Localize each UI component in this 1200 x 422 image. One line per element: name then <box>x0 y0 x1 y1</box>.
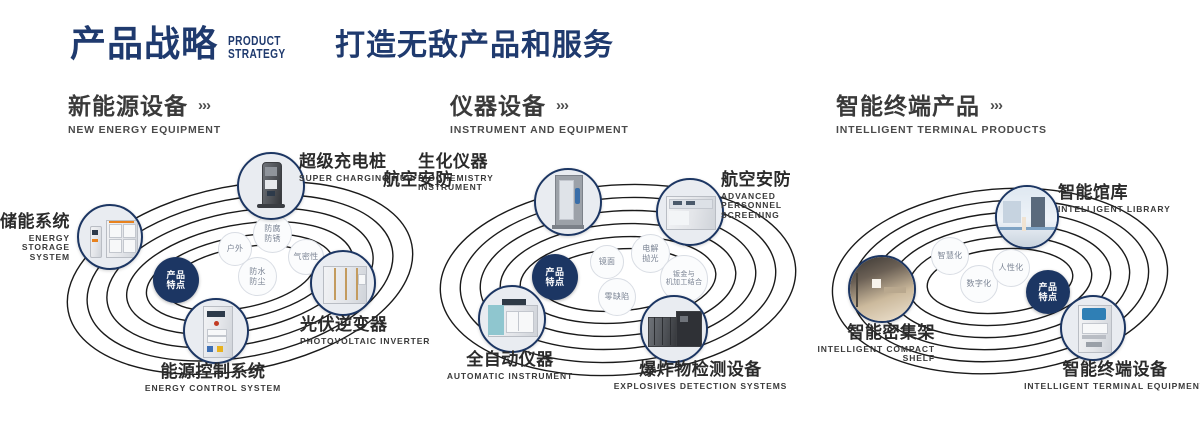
section-title-cn: 新能源设备 ››› <box>68 94 221 119</box>
section-heading-instrument: 仪器设备 ››› INSTRUMENT AND EQUIPMENT <box>450 94 629 136</box>
section-title-en: INTELLIGENT TERMINAL PRODUCTS <box>836 124 1047 136</box>
node-intelligent-library[interactable] <box>995 185 1059 249</box>
label-energy-control-system: 能源控制系统 ENERGY CONTROL SYSTEM <box>133 362 293 393</box>
section-title-en: INSTRUMENT AND EQUIPMENT <box>450 124 629 136</box>
page-title-en: PRODUCT STRATEGY <box>228 34 286 60</box>
feature-bubble: 零缺陷 <box>598 278 636 316</box>
automatic-analyzer-icon <box>480 287 544 351</box>
node-automatic-instrument[interactable] <box>478 285 546 353</box>
node-intelligent-compact-shelf[interactable] <box>848 255 916 323</box>
feature-bubble: 防水 防尘 <box>238 257 277 296</box>
section-heading-intelligent-terminal: 智能终端产品 ››› INTELLIGENT TERMINAL PRODUCTS <box>836 94 1047 136</box>
section-heading-new-energy: 新能源设备 ››› NEW ENERGY EQUIPMENT <box>68 94 221 136</box>
page-header: 产品战略 PRODUCT STRATEGY <box>70 26 302 62</box>
label-advanced-personnel-screening: 航空安防 ADVANCED PERSONNEL SCREENING <box>721 170 808 221</box>
section-title-en: NEW ENERGY EQUIPMENT <box>68 124 221 136</box>
chevron-right-icon: ››› <box>198 98 210 115</box>
label-intelligent-compact-shelf: 智能密集架 INTELLIGENT COMPACT SHELF <box>745 323 935 364</box>
label-energy-storage-system: 储能系统 ENERGY STORAGE SYSTEM <box>0 212 70 263</box>
node-energy-control-system[interactable] <box>183 298 249 364</box>
section-title-cn: 仪器设备 ››› <box>450 94 629 119</box>
label-photovoltaic-inverter: 光伏逆变器 PHOTOVOLTAIC INVERTER <box>300 315 430 346</box>
feature-bubble: 智慧化 <box>931 237 969 275</box>
energy-storage-cabinet-icon <box>79 206 141 268</box>
charging-pile-icon <box>239 154 303 218</box>
product-strategy-infographic: 产品战略 PRODUCT STRATEGY 打造无敌产品和服务 新能源设备 ››… <box>0 0 1200 422</box>
page-title-en-line2: STRATEGY <box>228 47 286 60</box>
node-explosives-detection-systems[interactable] <box>640 295 708 363</box>
node-biochemistry-instrument[interactable] <box>534 168 602 236</box>
page-title-cn: 产品战略 <box>70 26 218 62</box>
node-intelligent-terminal-equipment[interactable] <box>1060 295 1126 361</box>
feature-bubble: 人性化 <box>992 249 1030 287</box>
label-automatic-instrument: 全自动仪器 AUTOMATIC INSTRUMENT <box>420 350 600 381</box>
label-explosives-detection-systems: 爆炸物检测设备 EXPLOSIVES DETECTION SYSTEMS <box>603 360 798 391</box>
node-energy-storage-system[interactable] <box>77 204 143 270</box>
node-super-charging-hub[interactable] <box>237 152 305 220</box>
compact-shelf-icon <box>850 257 914 321</box>
explosives-detector-icon <box>642 297 706 361</box>
node-advanced-personnel-screening[interactable] <box>656 178 724 246</box>
control-cabinet-icon <box>185 300 247 362</box>
chevron-right-icon: ››› <box>556 98 568 115</box>
biochemistry-scanner-icon <box>536 170 600 234</box>
library-room-icon <box>997 187 1057 247</box>
pv-inverter-cabinet-icon <box>312 252 374 314</box>
node-photovoltaic-inverter[interactable] <box>310 250 376 316</box>
label-aviation-security-overlay: 航空安防 <box>383 170 453 190</box>
self-service-kiosk-icon <box>1062 297 1124 359</box>
label-intelligent-library: 智能馆库 INTELLIGENT LIBRARY <box>1058 183 1171 214</box>
section-title-cn: 智能终端产品 ››› <box>836 94 1047 119</box>
label-intelligent-terminal-equipment: 智能终端设备 INTELLIGENT TERMINAL EQUIPMENT <box>1015 360 1200 391</box>
screening-machine-icon <box>658 180 722 244</box>
cluster-intelligent-terminal: 智慧化 数字化 人性化 产品 特点 智能馆库 INTELLIGENT LIBRA… <box>820 155 1180 395</box>
page-slogan: 打造无敌产品和服务 <box>335 31 614 61</box>
core-feature-bubble: 产品 特点 <box>153 257 199 303</box>
chevron-right-icon: ››› <box>990 98 1002 115</box>
cluster-new-energy: 产品 特点 户外 防腐 防锈 防水 防尘 气密性 储能系统 ENERGY STO… <box>55 150 425 390</box>
feature-bubble: 镜面 <box>590 245 624 279</box>
